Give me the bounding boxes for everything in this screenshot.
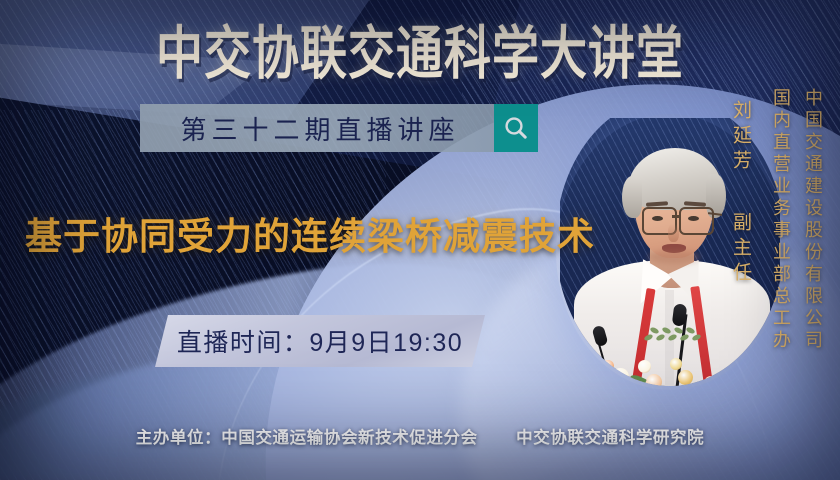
series-label: 第三十二期直播讲座 xyxy=(140,104,494,152)
speaker-role: 副主任 xyxy=(727,212,754,287)
eyeglasses-lens-right xyxy=(679,207,714,235)
lecture-title: 基于协同受力的连续梁桥减震技术 xyxy=(20,206,600,260)
broadcast-time-text: 直播时间：9月9日19:30 xyxy=(177,323,463,359)
speaker-department: 国内直营业务事业部总工办 xyxy=(768,88,794,352)
organizer-primary: 主办单位：中国交通运输协会新技术促进分会 xyxy=(136,429,478,447)
speaker-chin-shadow xyxy=(648,250,700,264)
speaker-hair-side-left xyxy=(622,176,642,218)
eyeglasses-bridge xyxy=(672,215,680,218)
organizer-secondary: 中交协联交通科学研究院 xyxy=(516,429,704,447)
speaker-company: 中国交通建设股份有限公司 xyxy=(800,88,826,352)
organizer-footer: 主办单位：中国交通运输协会新技术促进分会 中交协联交通科学研究院 xyxy=(0,424,840,448)
live-stream-poster: 中交协联交通科学大讲堂 第三十二期直播讲座 基于协同受力的连续梁桥减震技术 直播… xyxy=(0,0,840,480)
speaker-nose xyxy=(668,224,679,242)
broadcast-time-badge: 直播时间：9月9日19:30 xyxy=(155,315,485,367)
flower-sprig xyxy=(644,326,700,344)
page-title: 中交协联交通科学大讲堂 xyxy=(0,24,840,81)
search-icon[interactable] xyxy=(494,104,538,152)
series-bar: 第三十二期直播讲座 xyxy=(140,104,538,152)
speaker-name: 刘延芳 xyxy=(727,100,754,175)
